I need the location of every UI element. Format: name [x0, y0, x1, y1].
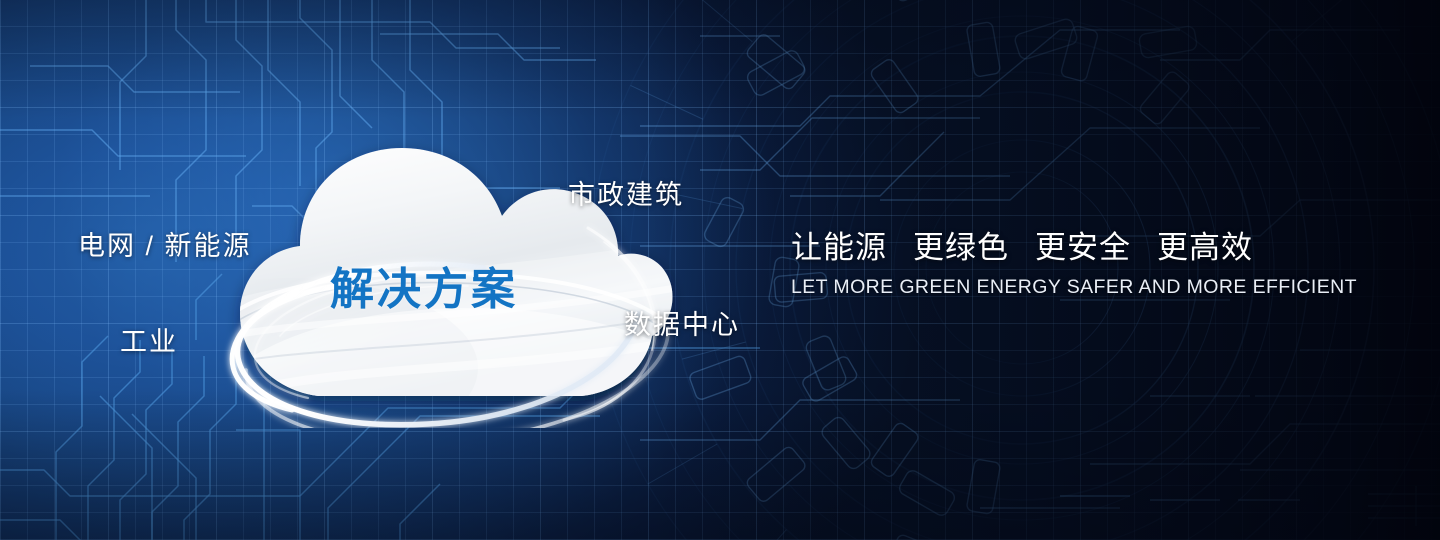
slogan-english: LET MORE GREEN ENERGY SAFER AND MORE EFF… — [791, 276, 1331, 299]
cloud-title: 解决方案 — [330, 253, 518, 317]
slogan-part-2: 更绿色 — [913, 230, 1009, 265]
node-label-grid: 电网 / 新能源 — [78, 224, 252, 263]
slogan-chinese: 让能源更绿色更安全更高效 — [791, 222, 1331, 267]
node-label-datacenter: 数据中心 — [624, 303, 740, 342]
slogan-part-4: 更高效 — [1157, 230, 1253, 265]
node-label-civic: 市政建筑 — [568, 173, 684, 212]
slogan-block: 让能源更绿色更安全更高效 LET MORE GREEN ENERGY SAFER… — [791, 222, 1331, 299]
slogan-part-3: 更安全 — [1035, 230, 1131, 265]
solution-banner: 解决方案 电网 / 新能源 工业 市政建筑 数据中心 让能源更绿色更安全更高效 … — [0, 0, 1440, 540]
slogan-part-1: 让能源 — [791, 230, 887, 265]
node-label-industry: 工业 — [120, 320, 178, 359]
